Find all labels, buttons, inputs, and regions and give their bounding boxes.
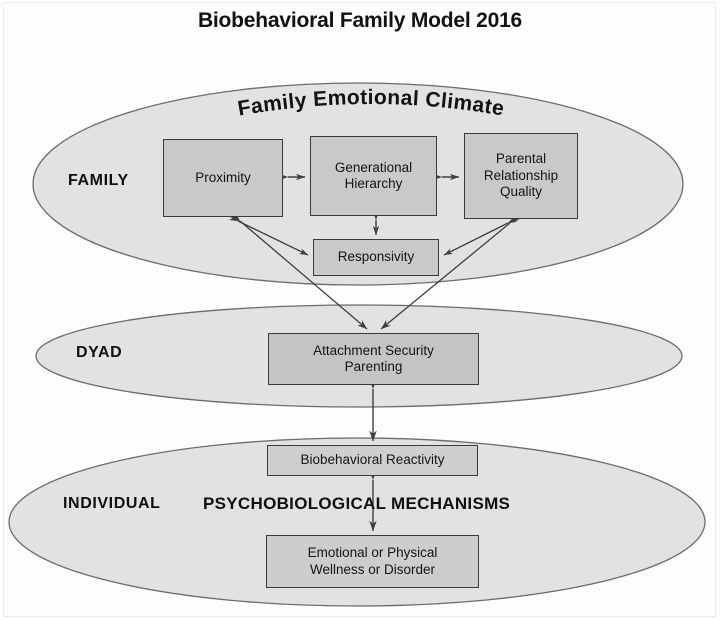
node-generational-hierarchy-label: Generational Hierarchy [335, 160, 412, 193]
node-parental-line2: Relationship [484, 168, 558, 183]
tier-label-dyad: DYAD [76, 344, 122, 362]
node-parental-line1: Parental [496, 151, 546, 166]
node-wellness-label: Emotional or Physical Wellness or Disord… [308, 545, 438, 578]
node-parental-line3: Quality [500, 184, 542, 199]
node-generational-hierarchy-line1: Generational [335, 160, 412, 175]
family-emotional-climate-label: Family Emotional Climate [236, 86, 506, 121]
tier-label-family: FAMILY [68, 172, 129, 190]
node-proximity-label: Proximity [195, 170, 251, 186]
node-proximity[interactable]: Proximity [163, 139, 283, 217]
node-responsivity-label: Responsivity [338, 249, 415, 265]
node-generational-hierarchy[interactable]: Generational Hierarchy [310, 136, 437, 216]
node-attachment-label: Attachment Security Parenting [313, 343, 434, 376]
node-biobehavioral-reactivity[interactable]: Biobehavioral Reactivity [267, 445, 478, 476]
node-wellness-line2: Wellness or Disorder [310, 562, 435, 577]
node-parental-relationship-quality[interactable]: Parental Relationship Quality [464, 133, 578, 219]
node-biobehavioral-reactivity-label: Biobehavioral Reactivity [300, 452, 444, 468]
node-generational-hierarchy-line2: Hierarchy [345, 176, 403, 191]
node-attachment-security-parenting[interactable]: Attachment Security Parenting [268, 333, 479, 385]
family-emotional-climate-banner: Family Emotional Climate [186, 86, 556, 132]
node-attachment-line1: Attachment Security [313, 343, 434, 358]
diagram-canvas: Biobehavioral Family Model 2016 [0, 0, 720, 620]
node-attachment-line2: Parenting [345, 359, 403, 374]
node-parental-relationship-quality-label: Parental Relationship Quality [484, 151, 558, 200]
tier-label-individual: INDIVIDUAL [63, 495, 161, 513]
psychobiological-mechanisms-label: PSYCHOBIOLOGICAL MECHANISMS [203, 494, 510, 514]
node-emotional-physical-wellness-disorder[interactable]: Emotional or Physical Wellness or Disord… [266, 535, 479, 588]
node-responsivity[interactable]: Responsivity [313, 239, 439, 276]
node-wellness-line1: Emotional or Physical [308, 545, 438, 560]
